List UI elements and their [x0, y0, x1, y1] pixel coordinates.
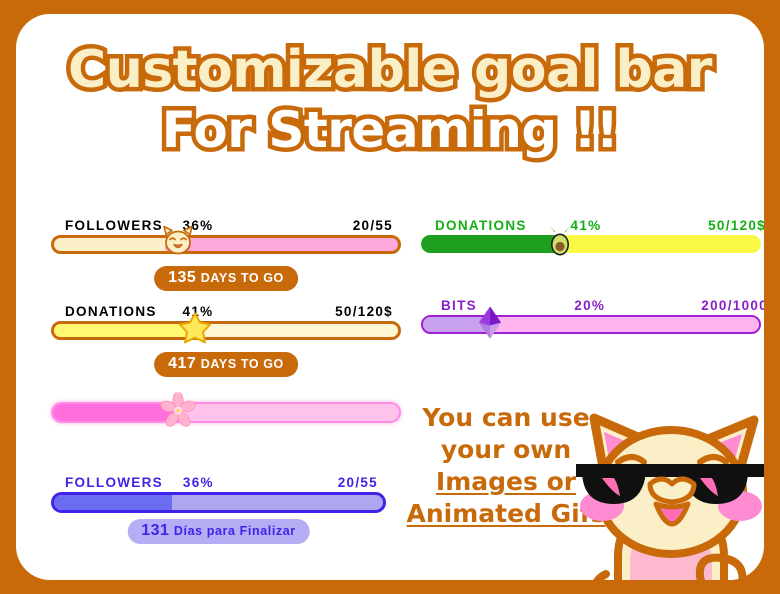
goal-bar-donations-yellow[interactable]: DONATIONS 41% 50/120$ 417 DAYS TO GO: [51, 304, 401, 340]
days-to-go-badge: 135 DAYS TO GO: [154, 266, 298, 291]
progress-track: [423, 317, 759, 332]
progress-bar[interactable]: [421, 315, 761, 334]
bar-label-percent: 20%: [574, 298, 605, 313]
bar-label-name: DONATIONS: [65, 304, 157, 319]
badge-number: 135: [168, 269, 196, 286]
bar-label-percent: 36%: [183, 218, 214, 233]
bar-labels: FOLLOWERS 36% 20/55: [51, 218, 401, 235]
badge-number: 131: [141, 522, 169, 539]
goal-bar-donations-green[interactable]: DONATIONS 41% 50/120$: [421, 218, 764, 253]
page-frame: Customizable goal bar For Streaming !! F…: [0, 0, 780, 594]
bar-label-value: 20/55: [353, 218, 393, 233]
goal-bar-followers-cream[interactable]: FOLLOWERS 36% 20/55: [51, 218, 401, 254]
bar-labels: BITS 20% 200/1000: [421, 298, 764, 315]
goal-bar-followers-blue[interactable]: FOLLOWERS 36% 20/55 131 Días para Finali…: [51, 475, 386, 513]
progress-track: [54, 495, 383, 510]
bar-labels: DONATIONS 41% 50/120$: [51, 304, 401, 321]
cool-cat-mascot: [576, 406, 764, 580]
progress-bar[interactable]: [51, 402, 401, 423]
badge-text: DAYS TO GO: [201, 357, 284, 371]
progress-fill: [421, 235, 560, 253]
progress-bar[interactable]: [51, 235, 401, 254]
title-line-2: For Streaming !!: [16, 100, 764, 160]
bar-label-name: BITS: [441, 298, 477, 313]
bar-label-value: 50/120$: [708, 218, 764, 233]
progress-fill: [54, 324, 195, 337]
progress-track: [53, 404, 399, 421]
bar-label-percent: 36%: [183, 475, 214, 490]
progress-fill: [53, 404, 178, 421]
bar-labels: FOLLOWERS 36% 20/55: [51, 475, 386, 492]
progress-bar[interactable]: [51, 492, 386, 513]
progress-fill: [54, 238, 178, 251]
title-line-1: Customizable goal bar: [16, 40, 764, 100]
badge-number: 417: [168, 355, 196, 372]
promo-line-1: You can use: [422, 403, 589, 432]
bar-labels: DONATIONS 41% 50/120$: [421, 218, 764, 235]
days-to-go-badge: 131 Días para Finalizar: [127, 519, 310, 544]
bar-label-percent: 41%: [183, 304, 214, 319]
progress-bar[interactable]: [51, 321, 401, 340]
bar-label-value: 20/55: [338, 475, 378, 490]
goal-bar-sakura-pink[interactable]: [51, 402, 401, 423]
progress-bar[interactable]: [421, 235, 761, 253]
progress-track: [54, 238, 398, 251]
progress-track: [421, 235, 761, 253]
page-title: Customizable goal bar For Streaming !!: [16, 40, 764, 160]
bar-label-name: FOLLOWERS: [65, 218, 163, 233]
progress-fill: [54, 495, 172, 510]
days-to-go-badge: 417 DAYS TO GO: [154, 352, 298, 377]
goal-bar-bits-purple[interactable]: BITS 20% 200/1000: [421, 298, 764, 334]
progress-fill: [423, 317, 490, 332]
badge-text: DAYS TO GO: [201, 271, 284, 285]
progress-track: [54, 324, 398, 337]
badge-text: Días para Finalizar: [174, 524, 296, 538]
bar-label-name: FOLLOWERS: [65, 475, 163, 490]
bar-label-name: DONATIONS: [435, 218, 527, 233]
promo-line-2: your own: [441, 435, 571, 464]
bar-label-percent: 41%: [571, 218, 602, 233]
bar-label-value: 50/120$: [335, 304, 393, 319]
page-canvas: Customizable goal bar For Streaming !! F…: [16, 14, 764, 580]
bar-label-value: 200/1000: [701, 298, 764, 313]
